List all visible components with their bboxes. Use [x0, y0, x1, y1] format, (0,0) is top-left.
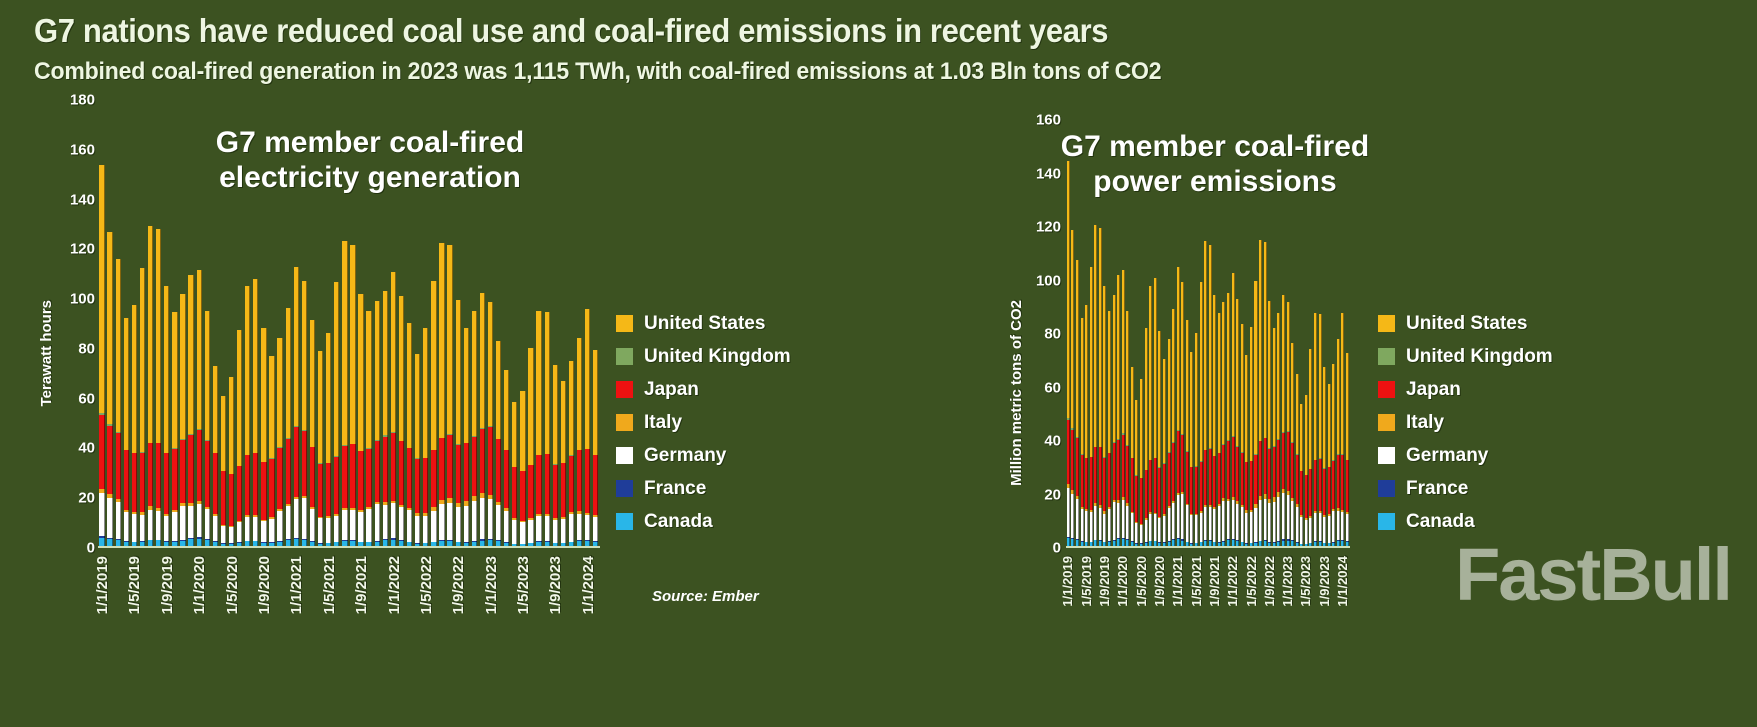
bar-segment	[504, 450, 509, 507]
bar-segment	[431, 450, 436, 507]
bar-stack-generation[interactable]	[551, 100, 559, 548]
bar-segment	[1332, 461, 1335, 509]
bar-segment	[1236, 447, 1239, 502]
bar-stack-generation[interactable]	[179, 100, 187, 548]
bar-stack-generation[interactable]	[163, 100, 171, 548]
bar-stack-generation[interactable]	[317, 100, 325, 548]
legend-label: France	[1406, 478, 1468, 500]
bar-segment	[1337, 339, 1340, 454]
legend-item-japan[interactable]: Japan	[1378, 373, 1553, 406]
legend-item-united-kingdom[interactable]: United Kingdom	[1378, 340, 1553, 373]
bar-segment	[261, 521, 266, 542]
legend-item-italy[interactable]: Italy	[1378, 406, 1553, 439]
bar-segment	[302, 431, 307, 496]
y-tick-label: 0	[87, 540, 95, 557]
bar-stack-generation[interactable]	[511, 100, 519, 548]
bar-segment	[1273, 447, 1276, 498]
bar-segment	[277, 338, 282, 448]
legend-swatch	[1378, 315, 1395, 332]
y-tick-label: 120	[1036, 219, 1061, 236]
bar-stack-generation[interactable]	[535, 100, 543, 548]
bar-segment	[1076, 438, 1079, 496]
bar-segment	[1067, 420, 1070, 484]
bar-segment	[1099, 447, 1102, 505]
bar-segment	[326, 463, 331, 517]
bar-segment	[156, 443, 161, 508]
legend-item-united-states[interactable]: United States	[1378, 307, 1553, 340]
legend-item-italy[interactable]: Italy	[616, 406, 791, 439]
bar-segment	[188, 435, 193, 503]
bar-segment	[342, 446, 347, 508]
bar-segment	[1190, 467, 1193, 514]
bar-segment	[1332, 364, 1335, 460]
bar-segment	[1122, 270, 1125, 433]
bar-segment	[1218, 313, 1221, 452]
bar-segment	[407, 448, 412, 508]
bar-segment	[1236, 504, 1239, 540]
bar-segment	[140, 515, 145, 541]
x-tick-label: 1/9/2019	[1097, 556, 1112, 607]
x-tick-label: 1/9/2020	[256, 556, 273, 614]
legend-label: Canada	[644, 511, 713, 533]
bar-segment	[456, 300, 461, 444]
bar-segment	[1277, 497, 1280, 541]
bar-segment	[545, 516, 550, 541]
bar-stack-generation[interactable]	[503, 100, 511, 548]
bar-segment	[1131, 367, 1134, 458]
bar-segment	[1341, 455, 1344, 510]
bar-segment	[464, 443, 469, 501]
bar-stack-generation[interactable]	[576, 100, 584, 548]
legend-item-canada[interactable]: Canada	[616, 505, 791, 538]
bar-segment	[99, 493, 104, 537]
bar-segment	[545, 312, 550, 454]
plot-area-generation	[98, 100, 600, 548]
bar-segment	[1337, 455, 1340, 509]
bar-segment	[294, 427, 299, 497]
plot-area-emissions	[1066, 120, 1350, 548]
legend-swatch	[1378, 480, 1395, 497]
bar-segment	[1341, 512, 1344, 540]
bar-stack-generation[interactable]	[114, 100, 122, 548]
x-tick-label: 1/1/2023	[483, 556, 500, 614]
bar-segment	[1177, 495, 1180, 538]
bar-segment	[1291, 443, 1294, 498]
bar-segment	[1186, 505, 1189, 541]
bar-segment	[318, 351, 323, 463]
legend-swatch	[616, 381, 633, 398]
bar-segment	[269, 459, 274, 517]
bar-segment	[148, 510, 153, 540]
bar-segment	[253, 517, 258, 541]
bar-segment	[1158, 518, 1161, 542]
bar-segment	[488, 302, 493, 426]
x-tick-label: 1/5/2019	[126, 556, 143, 614]
bar-segment	[1181, 282, 1184, 434]
bar-segment	[1135, 476, 1138, 523]
bar-stack-generation[interactable]	[406, 100, 414, 548]
bar-segment	[310, 447, 315, 507]
legend-swatch	[1378, 447, 1395, 464]
bar-segment	[528, 348, 533, 465]
bar-segment	[1122, 500, 1125, 537]
bar-segment	[1250, 512, 1253, 543]
bar-segment	[342, 241, 347, 445]
bar-stack-generation[interactable]	[308, 100, 316, 548]
bar-segment	[1177, 267, 1180, 430]
bar-stack-generation[interactable]	[292, 100, 300, 548]
bar-stack-generation[interactable]	[543, 100, 551, 548]
y-tick-label: 0	[1053, 540, 1061, 557]
legend-emissions: United StatesUnited KingdomJapanItalyGer…	[1378, 307, 1553, 538]
bar-stack-generation[interactable]	[155, 100, 163, 548]
legend-swatch	[616, 315, 633, 332]
bar-segment	[1126, 506, 1129, 539]
bar-segment	[496, 341, 501, 438]
bar-segment	[496, 439, 501, 501]
legend-label: Germany	[1406, 445, 1488, 467]
bar-segment	[545, 454, 550, 514]
bar-segment	[1071, 230, 1074, 428]
bar-stack-generation[interactable]	[211, 100, 219, 548]
bar-segment	[423, 516, 428, 543]
bar-stack-generation[interactable]	[268, 100, 276, 548]
bar-segment	[561, 381, 566, 463]
bar-stack-generation[interactable]	[438, 100, 446, 548]
bar-segment	[116, 502, 121, 538]
bar-segment	[197, 270, 202, 429]
bar-segment	[1108, 311, 1111, 453]
bar-segment	[1254, 455, 1257, 504]
x-tick-label: 1/9/2022	[1262, 556, 1277, 607]
bar-segment	[1309, 469, 1312, 516]
bar-stack-generation[interactable]	[171, 100, 179, 548]
bar-segment	[464, 506, 469, 542]
bar-stack-generation[interactable]	[122, 100, 130, 548]
bar-stack-generation[interactable]	[228, 100, 236, 548]
bar-segment	[1186, 452, 1189, 504]
bar-stack-group-generation	[98, 100, 600, 548]
bar-stack-generation[interactable]	[276, 100, 284, 548]
legend-label: United States	[1406, 313, 1527, 335]
bar-segment	[1282, 295, 1285, 431]
bar-segment	[1085, 305, 1088, 457]
bar-segment	[1305, 520, 1308, 544]
bar-segment	[488, 499, 493, 539]
bar-stack-generation[interactable]	[567, 100, 575, 548]
bar-stack-generation[interactable]	[357, 100, 365, 548]
bar-stack-generation[interactable]	[454, 100, 462, 548]
bar-stack-generation[interactable]	[487, 100, 495, 548]
bar-segment	[1323, 469, 1326, 516]
bar-segment	[1154, 514, 1157, 541]
bar-stack-generation[interactable]	[559, 100, 567, 548]
bar-segment	[1154, 278, 1157, 457]
bar-stack-generation[interactable]	[422, 100, 430, 548]
bar-segment	[577, 514, 582, 540]
legend-label: United States	[644, 313, 765, 335]
bar-segment	[1126, 311, 1129, 445]
bar-segment	[593, 350, 598, 455]
bar-stack-generation[interactable]	[446, 100, 454, 548]
y-tick-label: 180	[70, 92, 95, 109]
bar-segment	[1273, 328, 1276, 446]
legend-item-france[interactable]: France	[616, 472, 791, 505]
bar-segment	[277, 448, 282, 509]
bar-stack-generation[interactable]	[98, 100, 106, 548]
bar-segment	[107, 232, 112, 424]
bar-segment	[1241, 453, 1244, 505]
bar-segment	[1341, 313, 1344, 455]
bar-segment	[1090, 267, 1093, 457]
bar-segment	[172, 449, 177, 510]
bar-segment	[350, 245, 355, 444]
y-tick-label: 160	[70, 141, 95, 158]
bar-segment	[1346, 353, 1349, 460]
x-tick-label: 1/9/2020	[1152, 556, 1167, 607]
legend-item-france[interactable]: France	[1378, 472, 1553, 505]
bar-segment	[1328, 467, 1331, 514]
bar-segment	[1195, 333, 1198, 467]
bar-stack-generation[interactable]	[470, 100, 478, 548]
x-tick-label: 1/5/2020	[1134, 556, 1149, 607]
bar-segment	[383, 505, 388, 539]
bar-segment	[366, 311, 371, 448]
bar-segment	[472, 311, 477, 435]
bar-segment	[528, 465, 533, 519]
bar-segment	[1332, 511, 1335, 542]
bar-segment	[180, 294, 185, 438]
x-tick-label: 1/5/2019	[1079, 556, 1094, 607]
bar-segment	[1145, 328, 1148, 470]
bar-segment	[1250, 327, 1253, 461]
bar-segment	[237, 466, 242, 521]
x-tick-label: 1/5/2021	[1189, 556, 1204, 607]
bar-segment	[261, 462, 266, 519]
y-tick-label: 120	[70, 241, 95, 258]
x-tick-label: 1/9/2021	[1207, 556, 1222, 607]
bar-stack-generation[interactable]	[462, 100, 470, 548]
bar-segment	[1090, 457, 1093, 509]
bar-stack-generation[interactable]	[195, 100, 203, 548]
bar-segment	[116, 433, 121, 499]
bar-segment	[1081, 455, 1084, 507]
bar-segment	[1168, 453, 1171, 507]
bar-segment	[1296, 374, 1299, 454]
bar-segment	[375, 504, 380, 540]
bar-segment	[310, 320, 315, 447]
bar-segment	[1300, 471, 1303, 515]
x-tick-label: 1/1/2021	[288, 556, 305, 614]
legend-item-united-kingdom[interactable]: United Kingdom	[616, 340, 791, 373]
bar-segment	[229, 527, 234, 543]
bar-segment	[593, 517, 598, 541]
bar-segment	[593, 455, 598, 515]
x-tick-label: 1/1/2021	[1170, 556, 1185, 607]
bar-segment	[1168, 508, 1171, 541]
y-tick-label: 40	[78, 440, 95, 457]
bar-segment	[180, 506, 185, 540]
bar-segment	[1135, 400, 1138, 475]
bar-segment	[1131, 458, 1134, 512]
y-tick-label: 20	[1044, 486, 1061, 503]
bar-segment	[1328, 384, 1331, 467]
bar-segment	[1076, 499, 1079, 539]
bar-segment	[188, 506, 193, 537]
bar-stack-generation[interactable]	[381, 100, 389, 548]
bar-stack-generation[interactable]	[325, 100, 333, 548]
bar-segment	[213, 453, 218, 514]
legend-item-germany[interactable]: Germany	[1378, 439, 1553, 472]
bar-segment	[1085, 458, 1088, 509]
bar-segment	[1117, 275, 1120, 438]
bar-stack-generation[interactable]	[130, 100, 138, 548]
bar-segment	[447, 435, 452, 498]
legend-item-germany[interactable]: Germany	[616, 439, 791, 472]
x-tick-label: 1/5/2022	[1244, 556, 1259, 607]
bar-stack-generation[interactable]	[414, 100, 422, 548]
bar-stack-generation[interactable]	[365, 100, 373, 548]
bar-stack-generation[interactable]	[187, 100, 195, 548]
bar-segment	[132, 305, 137, 453]
bar-segment	[536, 311, 541, 455]
bar-stack-generation[interactable]	[219, 100, 227, 548]
bar-segment	[569, 456, 574, 512]
bar-segment	[383, 437, 388, 503]
bar-stack-generation[interactable]	[527, 100, 535, 548]
legend-item-japan[interactable]: Japan	[616, 373, 791, 406]
bar-stack-generation[interactable]	[138, 100, 146, 548]
x-axis-line-emissions	[1066, 546, 1350, 548]
bar-segment	[1282, 493, 1285, 538]
bar-segment	[1291, 501, 1294, 540]
bar-segment	[1131, 513, 1134, 541]
bar-segment	[391, 272, 396, 431]
bar-segment	[1140, 478, 1143, 523]
bar-segment	[1149, 460, 1152, 512]
bar-segment	[561, 519, 566, 543]
bar-segment	[269, 356, 274, 458]
bar-stack-generation[interactable]	[519, 100, 527, 548]
x-tick-label: 1/9/2022	[450, 556, 467, 614]
bar-stack-emissions[interactable]	[1345, 120, 1350, 548]
bar-stack-generation[interactable]	[300, 100, 308, 548]
bar-segment	[1268, 449, 1271, 500]
bar-segment	[366, 449, 371, 507]
bar-stack-generation[interactable]	[260, 100, 268, 548]
bar-segment	[358, 294, 363, 451]
bar-stack-generation[interactable]	[106, 100, 114, 548]
bar-stack-generation[interactable]	[584, 100, 592, 548]
bar-stack-generation[interactable]	[592, 100, 600, 548]
bar-segment	[1218, 506, 1221, 542]
bar-stack-generation[interactable]	[236, 100, 244, 548]
bar-stack-generation[interactable]	[147, 100, 155, 548]
bar-segment	[99, 415, 104, 488]
bar-segment	[1264, 499, 1267, 540]
bar-segment	[439, 243, 444, 437]
bar-stack-generation[interactable]	[430, 100, 438, 548]
bar-segment	[302, 498, 307, 539]
bar-segment	[1126, 446, 1129, 504]
bar-segment	[132, 514, 137, 541]
bar-segment	[447, 245, 452, 434]
bar-segment	[1319, 513, 1322, 541]
legend-item-united-states[interactable]: United States	[616, 307, 791, 340]
bar-segment	[1172, 309, 1175, 443]
bar-stack-generation[interactable]	[284, 100, 292, 548]
bar-segment	[1094, 447, 1097, 503]
bar-segment	[245, 455, 250, 515]
y-axis-ticks-emissions: 020406080100120140160	[1021, 120, 1061, 548]
bar-segment	[1264, 242, 1267, 437]
bar-stack-generation[interactable]	[495, 100, 503, 548]
bar-stack-generation[interactable]	[341, 100, 349, 548]
bar-segment	[1227, 441, 1230, 499]
y-tick-label: 160	[1036, 112, 1061, 129]
bar-segment	[577, 450, 582, 511]
bar-stack-generation[interactable]	[203, 100, 211, 548]
bar-segment	[205, 311, 210, 440]
bar-stack-generation[interactable]	[478, 100, 486, 548]
bar-segment	[1309, 349, 1312, 469]
bar-stack-generation[interactable]	[349, 100, 357, 548]
bar-segment	[1337, 511, 1340, 540]
bar-segment	[1099, 228, 1102, 447]
bar-segment	[480, 498, 485, 539]
bar-stack-generation[interactable]	[373, 100, 381, 548]
bar-segment	[286, 439, 291, 505]
bar-segment	[1209, 507, 1212, 540]
bar-segment	[1241, 324, 1244, 452]
bar-segment	[1309, 518, 1312, 543]
bar-segment	[1163, 464, 1166, 515]
bar-segment	[1172, 503, 1175, 539]
bar-segment	[1328, 516, 1331, 543]
bar-segment	[326, 518, 331, 543]
bar-segment	[1227, 293, 1230, 440]
bar-segment	[1213, 295, 1216, 456]
bar-segment	[480, 293, 485, 427]
bar-segment	[318, 464, 323, 518]
bar-stack-generation[interactable]	[252, 100, 260, 548]
legend-swatch	[616, 414, 633, 431]
bar-segment	[1204, 450, 1207, 505]
bar-segment	[520, 522, 525, 543]
bar-segment	[294, 499, 299, 538]
bar-segment	[286, 506, 291, 538]
source-note: Source: Ember	[652, 588, 759, 605]
bar-segment	[1071, 430, 1074, 490]
bar-stack-generation[interactable]	[397, 100, 405, 548]
bar-segment	[1346, 514, 1349, 541]
bar-segment	[1209, 245, 1212, 448]
bar-stack-generation[interactable]	[333, 100, 341, 548]
bar-segment	[229, 377, 234, 474]
bar-segment	[553, 520, 558, 542]
bar-segment	[415, 459, 420, 514]
bar-segment	[342, 510, 347, 540]
bar-segment	[1222, 501, 1225, 541]
bar-segment	[399, 507, 404, 539]
legend-item-canada[interactable]: Canada	[1378, 505, 1553, 538]
bar-segment	[1090, 512, 1093, 541]
bar-stack-generation[interactable]	[389, 100, 397, 548]
bar-segment	[197, 430, 202, 501]
bar-segment	[1282, 433, 1285, 489]
bar-stack-generation[interactable]	[244, 100, 252, 548]
bar-segment	[1296, 455, 1299, 504]
